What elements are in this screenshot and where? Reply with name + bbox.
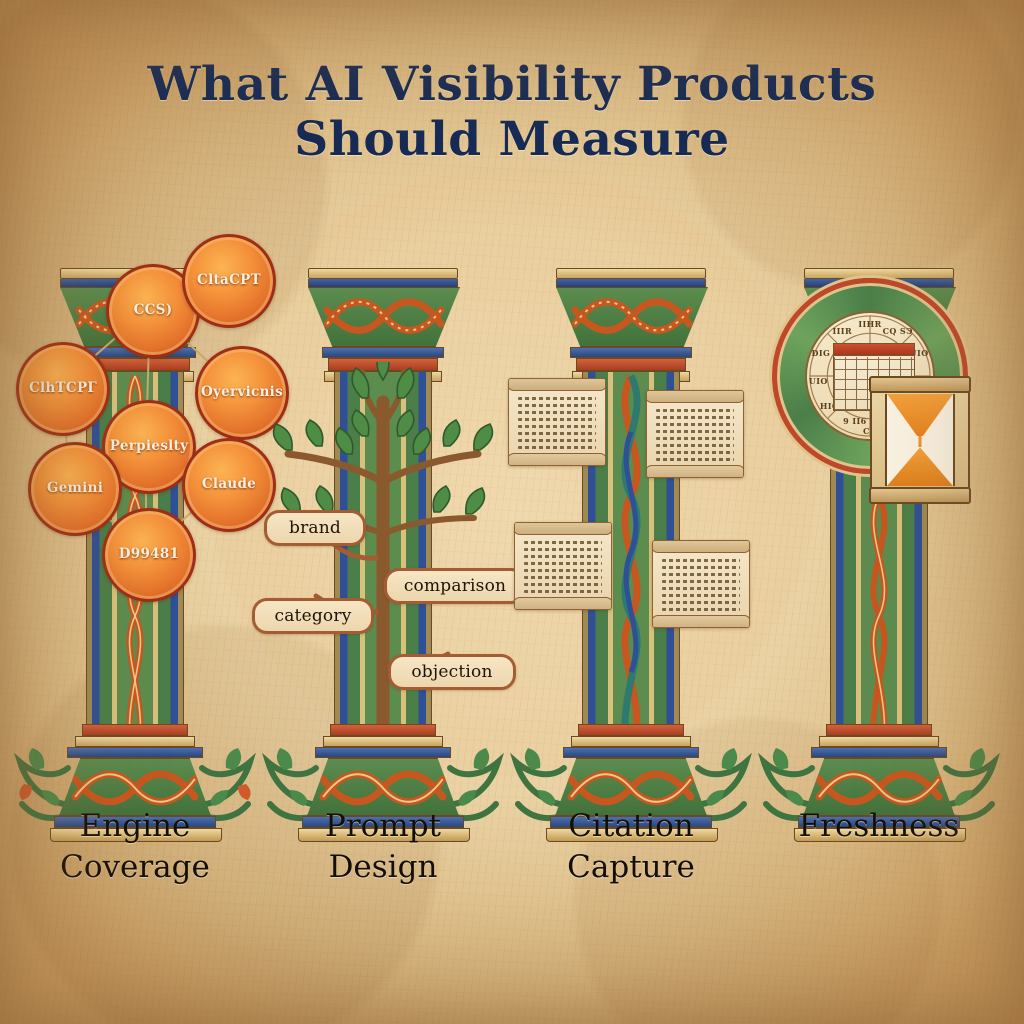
calendar-glyph: CQ SЭ — [883, 326, 913, 336]
capital-blue-band — [308, 279, 458, 287]
pillar-caption-row: Engine Coverage Prompt Design Citation C… — [0, 806, 1024, 926]
pillar-prompt-design: brand category comparison objection — [258, 250, 508, 870]
scroll-text-lines — [656, 409, 734, 459]
hourglass-icon[interactable] — [870, 378, 970, 502]
pillar-caption-freshness: Freshness — [754, 806, 1004, 847]
hourglass-sand-stream — [919, 436, 922, 447]
prompt-banner[interactable]: brand — [264, 510, 366, 546]
capital-knotwork-bell — [308, 287, 460, 347]
title-line-2: Should Measure — [0, 113, 1024, 168]
base-torus — [330, 724, 436, 736]
illustration-canvas: What AI Visibility Products Should Measu… — [0, 0, 1024, 1024]
engine-node[interactable]: Gemini — [28, 442, 122, 536]
prompt-banner-label: brand — [289, 518, 341, 538]
prompt-banner-label: category — [275, 606, 352, 626]
engine-node[interactable]: D99481 — [102, 508, 196, 602]
base-blue-band — [315, 747, 451, 758]
base-torus — [826, 724, 932, 736]
base-torus — [82, 724, 188, 736]
engine-node-label: ClhTCPГ — [29, 382, 97, 396]
capital-collar — [570, 347, 692, 358]
caption-line-1: Freshness — [754, 806, 1004, 847]
celtic-knot-icon — [319, 294, 449, 340]
pillar-caption-prompt-design: Prompt Design — [258, 806, 508, 888]
scroll-text-lines — [524, 541, 602, 591]
capital-abacus — [308, 268, 458, 279]
base-blue-band — [811, 747, 947, 758]
capital-knotwork-bell — [556, 287, 708, 347]
hourglass-sand-top — [887, 394, 953, 436]
title-line-1: What AI Visibility Products — [0, 58, 1024, 113]
hourglass-bottom-cap — [869, 487, 971, 504]
calendar-glyph: IIHR — [858, 319, 881, 329]
caption-line-1: Prompt — [258, 806, 508, 847]
scroll-text-lines — [518, 397, 596, 447]
hourglass-top-cap — [869, 376, 971, 393]
capital-abacus — [556, 268, 706, 279]
pillar-caption-engine-coverage: Engine Coverage — [10, 806, 260, 888]
scroll-text-lines — [662, 559, 740, 609]
prompt-banner[interactable]: comparison — [384, 568, 526, 604]
page-title: What AI Visibility Products Should Measu… — [0, 58, 1024, 167]
engine-node-label: CltaCPT — [197, 274, 261, 288]
capital-collar — [322, 347, 444, 358]
engine-node-label: Gemini — [47, 482, 103, 496]
calendar-glyph: UIO — [809, 376, 828, 386]
hourglass-glass — [885, 394, 955, 486]
caption-line-1: Citation — [506, 806, 756, 847]
prompt-banner-label: objection — [411, 662, 492, 682]
pillar-row: CCS) CltaCPT ClhTCPГ Oyervicnis Perpiesl… — [0, 250, 1024, 870]
citation-scroll[interactable] — [514, 522, 612, 610]
caption-line-2: Coverage — [10, 847, 260, 888]
base-gold-band — [75, 736, 195, 747]
celtic-knot-icon — [567, 294, 697, 340]
caption-line-1: Engine — [10, 806, 260, 847]
caption-line-2: Design — [258, 847, 508, 888]
caption-line-2: Capture — [506, 847, 756, 888]
calendar-grid-header — [834, 344, 914, 356]
capital-blue-band — [556, 279, 706, 287]
base-gold-band — [571, 736, 691, 747]
prompt-banner-label: comparison — [404, 576, 506, 596]
engine-node-label: Perpieslty — [110, 440, 188, 454]
capital-abacus — [804, 268, 954, 279]
citation-scroll[interactable] — [508, 378, 606, 466]
calendar-glyph: DIG — [812, 348, 831, 358]
base-gold-band — [819, 736, 939, 747]
calendar-glyph: 9 II6 — [843, 416, 866, 426]
engine-node-label: CCS) — [134, 304, 173, 318]
prompt-banner[interactable]: category — [252, 598, 374, 634]
base-blue-band — [67, 747, 203, 758]
capital-torus — [576, 358, 686, 371]
pillar-freshness: IIHR CQ SЭ UIO DIO OIO DID 9 II6 HIG. UI… — [754, 250, 1004, 870]
engine-node-network: CCS) CltaCPT ClhTCPГ Oyervicnis Perpiesl… — [10, 250, 260, 610]
base-blue-band — [563, 747, 699, 758]
base-torus — [578, 724, 684, 736]
pillar-caption-citation-capture: Citation Capture — [506, 806, 756, 888]
pillar-citation-capture — [506, 250, 756, 870]
calendar-glyph: IIIR — [833, 326, 852, 336]
engine-node-label: D99481 — [119, 548, 179, 562]
pillar-capital — [556, 268, 706, 382]
base-gold-band — [323, 736, 443, 747]
pillar-engine-coverage: CCS) CltaCPT ClhTCPГ Oyervicnis Perpiesl… — [10, 250, 260, 870]
engine-node[interactable]: ClhTCPГ — [16, 342, 110, 436]
prompt-banner[interactable]: objection — [388, 654, 516, 690]
hourglass-sand-bottom — [887, 447, 953, 486]
engine-node-label: Claude — [202, 478, 256, 492]
citation-scroll[interactable] — [652, 540, 750, 628]
citation-scroll[interactable] — [646, 390, 744, 478]
